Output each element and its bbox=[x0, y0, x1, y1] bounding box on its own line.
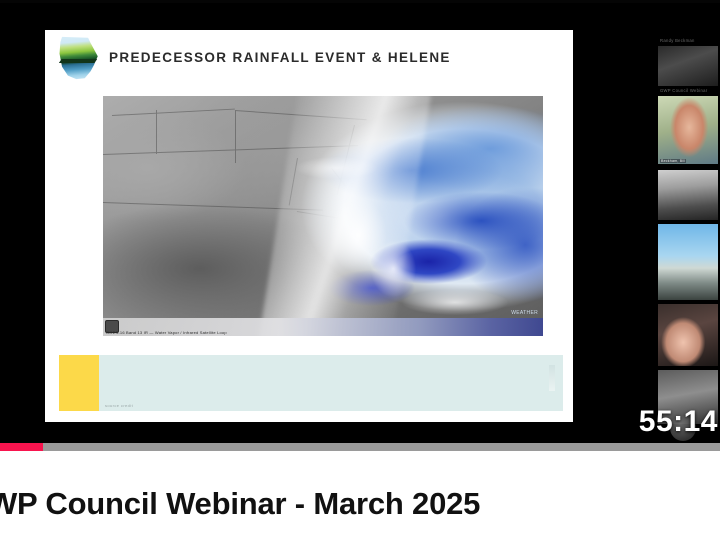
player-top-seam bbox=[0, 0, 720, 3]
participant-video-feed bbox=[658, 96, 718, 164]
slide-title: PREDECESSOR RAINFALL EVENT & HELENE bbox=[109, 51, 451, 65]
participant-tile[interactable] bbox=[658, 170, 718, 220]
participant-video-feed bbox=[658, 304, 718, 366]
video-progress-played bbox=[0, 443, 43, 451]
session-timer: 55:14 bbox=[639, 407, 720, 437]
participant-name: Beckham, Bill bbox=[660, 159, 686, 163]
participant-video-feed bbox=[658, 46, 718, 86]
slide-panel-note: source credit bbox=[105, 403, 133, 408]
emblem-shape bbox=[57, 36, 99, 80]
video-player-page: PREDECESSOR RAINFALL EVENT & HELENE bbox=[0, 0, 720, 540]
participant-tile[interactable] bbox=[658, 304, 718, 366]
slide-accent-swatch bbox=[59, 355, 99, 411]
participant-tile[interactable]: Beckham, Bill bbox=[658, 96, 718, 164]
filmstrip-label-1: GWP Council Webinar bbox=[660, 88, 707, 93]
satellite-watermark: WEATHER bbox=[511, 310, 538, 316]
participant-tile[interactable] bbox=[658, 46, 718, 86]
emblem-stripe bbox=[59, 59, 98, 63]
slide-panel-mark bbox=[549, 365, 555, 391]
satellite-caption: GOES-16 Band 13 IR — Water Vapor / Infra… bbox=[106, 330, 227, 335]
georgia-state-emblem-icon bbox=[57, 36, 99, 80]
video-progress-track[interactable] bbox=[0, 443, 720, 451]
slide-info-panel: source credit bbox=[99, 355, 563, 411]
participant-video-feed bbox=[658, 224, 718, 300]
filmstrip-label-0: Randy Beckman bbox=[660, 38, 695, 43]
satellite-radar-figure: WEATHER GOES-16 Band 13 IR — Water Vapor… bbox=[103, 96, 543, 336]
presentation-slide: PREDECESSOR RAINFALL EVENT & HELENE bbox=[45, 30, 573, 422]
participant-filmstrip[interactable]: Randy Beckman GWP Council Webinar Beckha… bbox=[654, 38, 720, 438]
video-meta-section: WP Council Webinar - March 2025 bbox=[0, 451, 720, 540]
participant-video-feed bbox=[658, 170, 718, 220]
video-player-stage[interactable]: PREDECESSOR RAINFALL EVENT & HELENE bbox=[0, 0, 720, 443]
participant-tile[interactable] bbox=[658, 224, 718, 300]
slide-header: PREDECESSOR RAINFALL EVENT & HELENE bbox=[45, 30, 573, 86]
slide-lower-band: source credit bbox=[59, 355, 563, 411]
video-title: WP Council Webinar - March 2025 bbox=[0, 486, 480, 522]
